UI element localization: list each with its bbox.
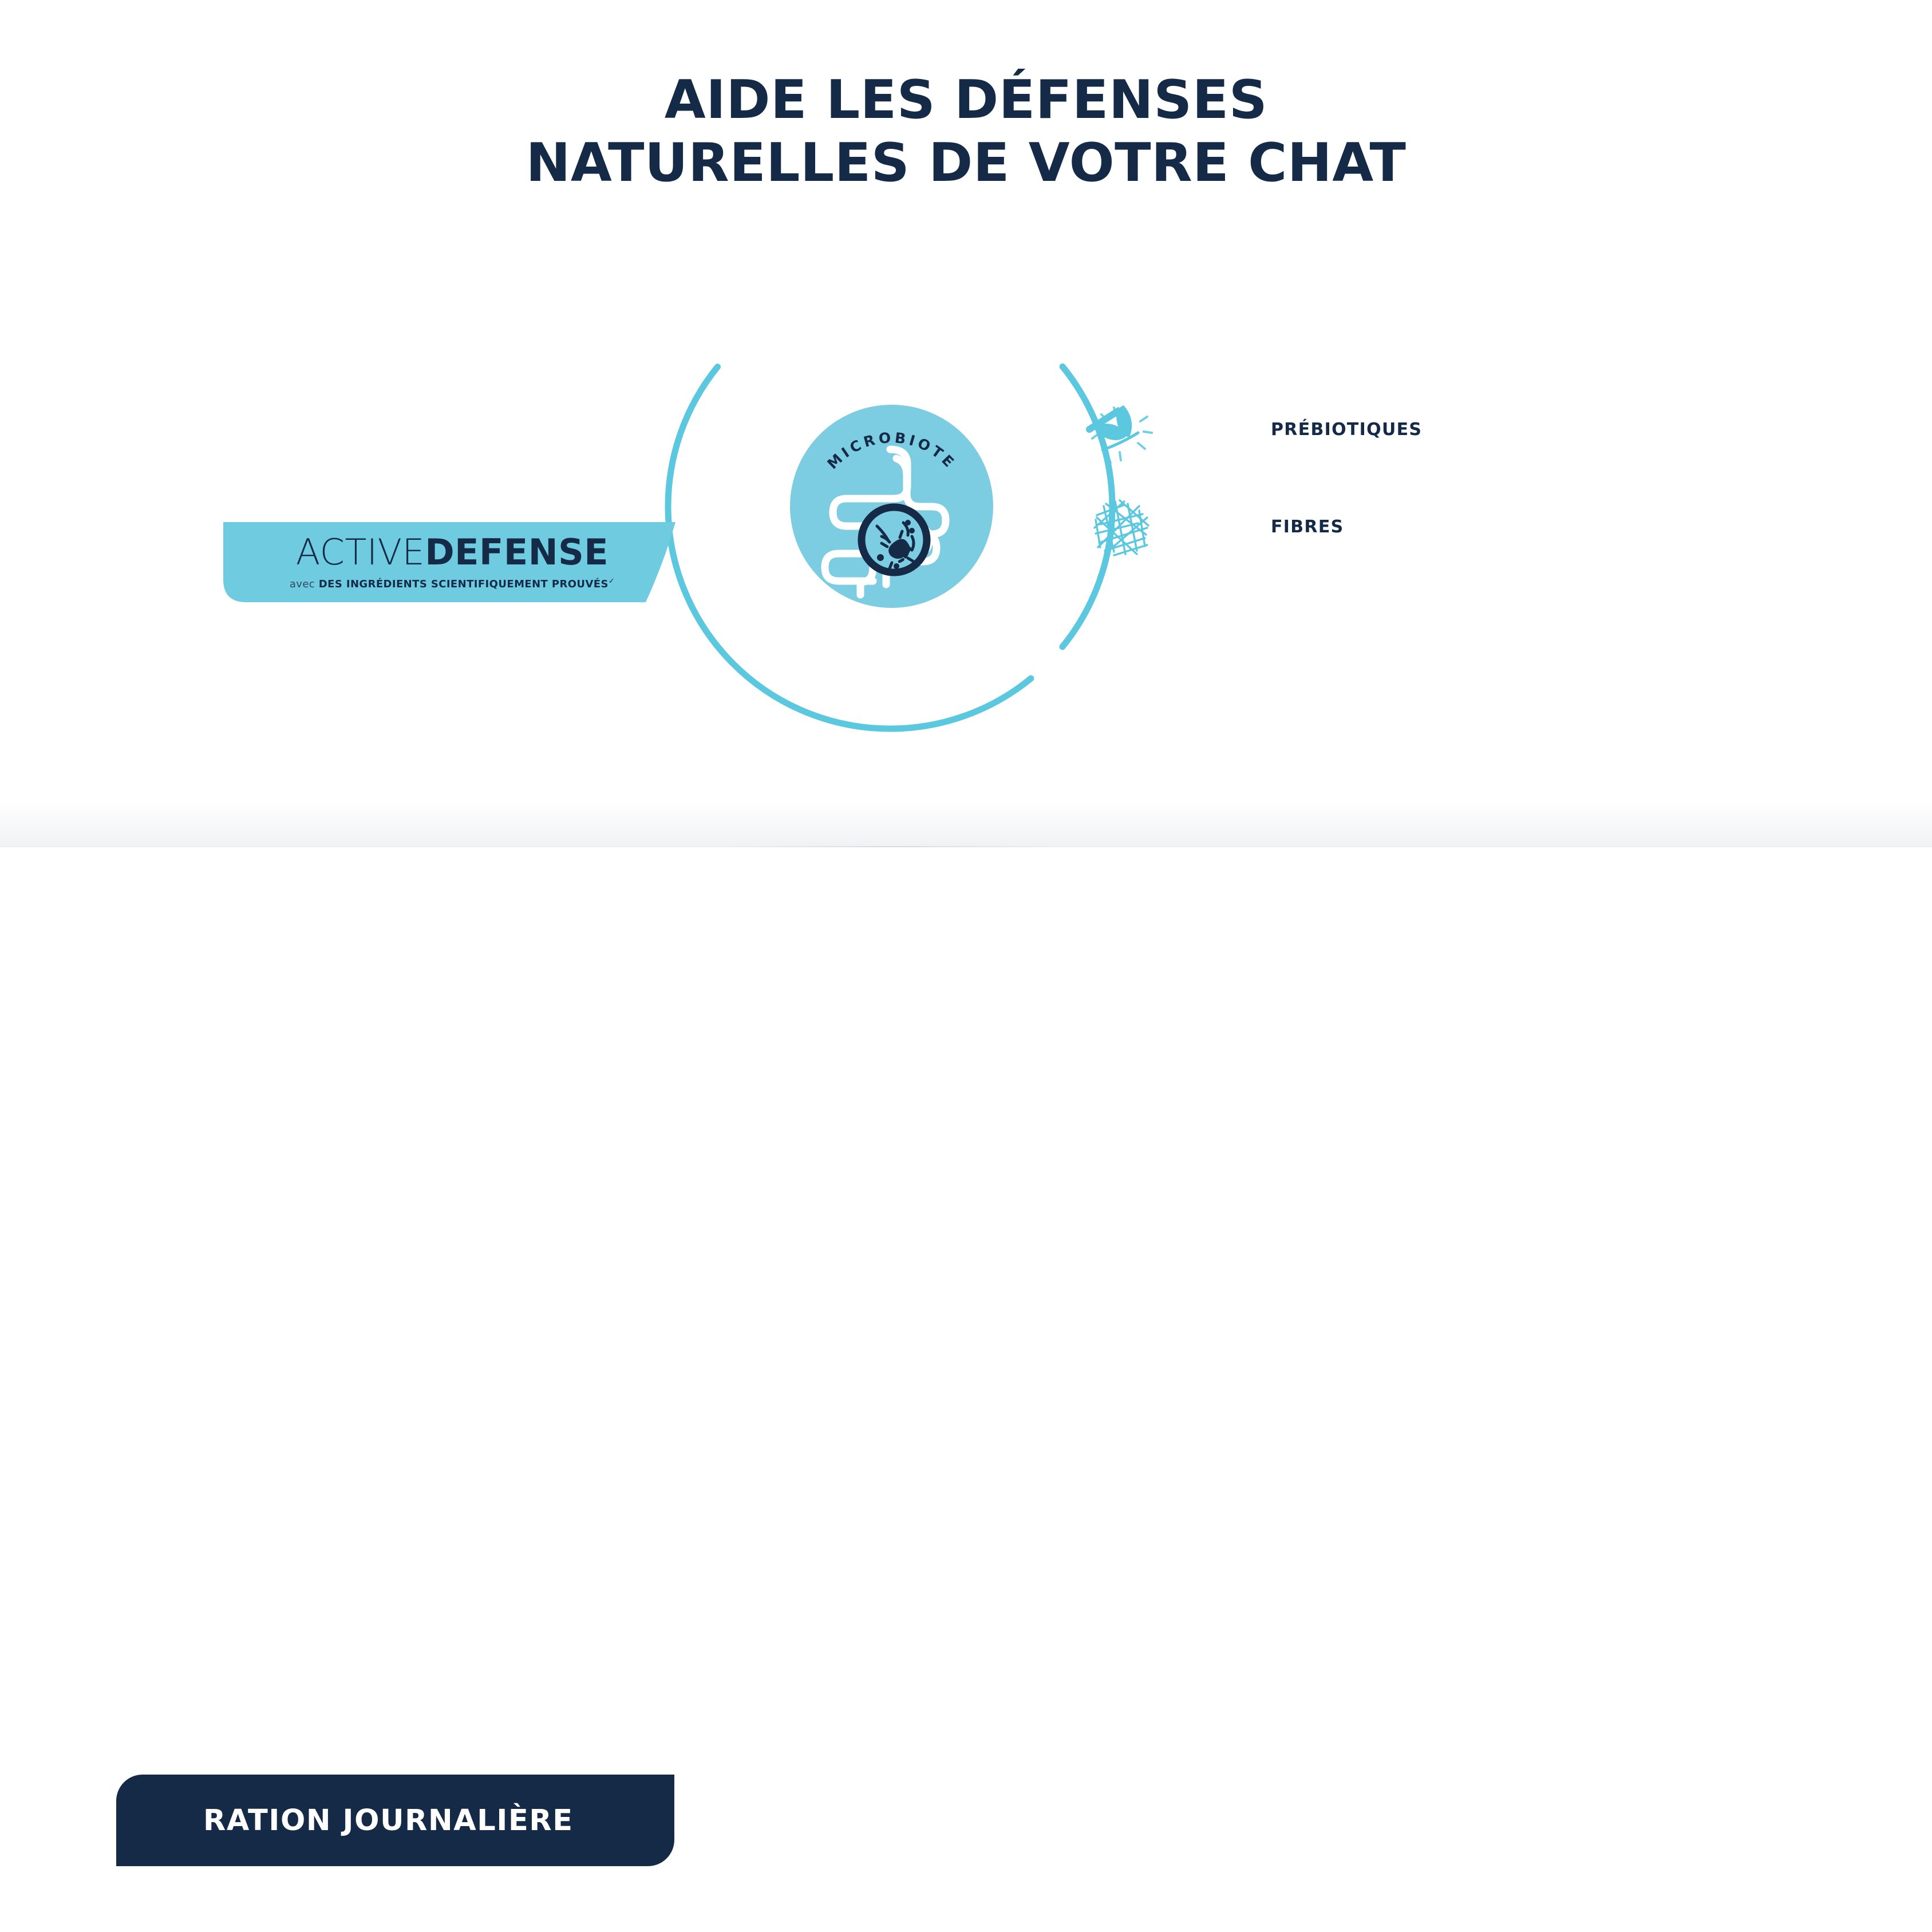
callout-fibres: FIBRES bbox=[1088, 492, 1344, 561]
hero-section: AIDE LES DÉFENSES NATURELLES DE VOTRE CH… bbox=[0, 0, 1932, 847]
active-defense-tagline: avec DES INGRÉDIENTS SCIENTIFIQUEMENT PR… bbox=[290, 577, 615, 590]
callout-label-fibres: FIBRES bbox=[1271, 517, 1344, 537]
fiber-mesh-icon bbox=[1088, 492, 1156, 561]
microbiome-diagram: MICROBIOTE SAIN bbox=[661, 278, 1119, 736]
brand-word-defense: DEFENSE bbox=[425, 531, 609, 573]
callout-prebiotics: PRÉBIOTIQUES bbox=[1088, 395, 1422, 464]
active-defense-badge: ACTIVEDEFENSE avec DES INGRÉDIENTS SCIEN… bbox=[223, 522, 704, 602]
microbiote-sain-badge: MICROBIOTE SAIN bbox=[790, 405, 993, 608]
brand-word-active: ACTIVE bbox=[296, 531, 425, 573]
active-defense-wordmark: ACTIVEDEFENSE bbox=[296, 535, 609, 570]
tagline-text: DES INGRÉDIENTS SCIENTIFIQUEMENT PROUVÉS bbox=[319, 578, 609, 590]
page-title: AIDE LES DÉFENSES NATURELLES DE VOTRE CH… bbox=[0, 69, 1932, 194]
section-divider bbox=[0, 801, 1932, 847]
daily-ration-section: RATION JOURNALIÈRE Ration Quotidienne Re… bbox=[0, 847, 1932, 1932]
bacteria-dish-icon bbox=[862, 507, 927, 572]
ration-journaliere-badge: RATION JOURNALIÈRE bbox=[116, 1775, 674, 1866]
leaf-icon bbox=[1088, 395, 1156, 464]
page-title-line-2: NATURELLES DE VOTRE CHAT bbox=[0, 132, 1932, 195]
page-title-line-1: AIDE LES DÉFENSES bbox=[0, 69, 1932, 132]
callout-label-prebiotics: PRÉBIOTIQUES bbox=[1271, 420, 1422, 440]
tagline-prefix: avec bbox=[290, 578, 315, 590]
gut-microbiome-icon: MICROBIOTE SAIN bbox=[790, 405, 993, 608]
tagline-check-mark: ✓ bbox=[609, 577, 615, 586]
ration-journaliere-label: RATION JOURNALIÈRE bbox=[203, 1804, 574, 1838]
